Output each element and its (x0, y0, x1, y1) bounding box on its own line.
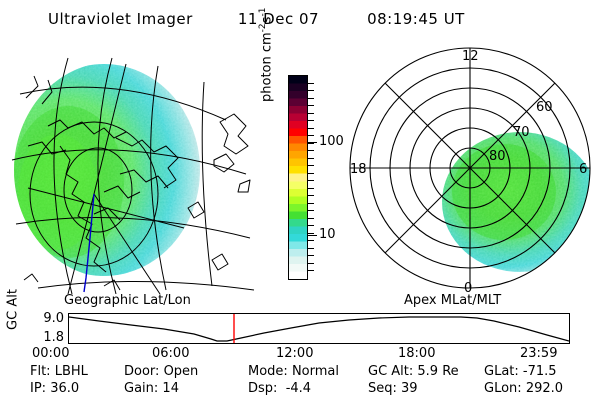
lat-label-70: 70 (513, 125, 530, 140)
altitude-xtick-4: 23:59 (520, 346, 557, 361)
colorbar-minor-tick (308, 233, 314, 234)
observation-time: 08:19:45 UT (367, 10, 465, 28)
altitude-xtick-0: 00:00 (32, 346, 69, 361)
polar-plot-svg: 12 18 6 0 60 70 80 (348, 42, 596, 294)
polar-panel-subtitle: Apex MLat/MLT (404, 293, 501, 308)
status-gcalt: GC Alt: 5.9 Re (368, 364, 459, 379)
geographic-panel-subtitle: Geographic Lat/Lon (64, 293, 191, 308)
altitude-xtick-2: 12:00 (276, 346, 313, 361)
altitude-track-svg (69, 314, 569, 343)
status-gcalt-value: 5.9 Re (417, 364, 458, 379)
status-readout: Flt: LBHL Door: Open Mode: Normal GC Alt… (0, 364, 600, 398)
status-seq-label: Seq: (368, 381, 397, 396)
colorbar-minor-tick (308, 98, 314, 99)
status-row-1: Flt: LBHL Door: Open Mode: Normal GC Alt… (0, 364, 600, 381)
colorbar-minor-tick (308, 90, 314, 91)
colorbar-minor-tick (308, 225, 314, 226)
colorbar-minor-tick (308, 270, 314, 271)
colorbar-gradient (289, 76, 307, 279)
mlt-spokes (350, 48, 590, 288)
colorbar-minor-tick (308, 180, 314, 181)
status-mode: Mode: Normal (248, 364, 339, 379)
colorbar-axis-label: photon cm-2s-1 (258, 0, 274, 102)
colorbar-minor-tick (308, 165, 314, 166)
mlt-label-12: 12 (462, 49, 479, 64)
status-flt-value: LBHL (55, 364, 88, 379)
observation-date: 11 Dec 07 (238, 10, 319, 28)
status-door-value: Open (164, 364, 199, 379)
lat-label-80: 80 (489, 149, 506, 164)
colorbar-group: photon cm-2s-1 10010 (256, 42, 342, 294)
colorbar-minor-tick (308, 113, 314, 114)
colorbar-unit-exp1: -2 (258, 23, 268, 32)
status-gain-value: 14 (162, 381, 179, 396)
status-ip: IP: 36.0 (30, 381, 79, 396)
status-gcalt-label: GC Alt: (368, 364, 413, 379)
geographic-image-panel[interactable] (8, 42, 256, 294)
header-bar: Ultraviolet Imager 11 Dec 07 08:19:45 UT (0, 6, 600, 32)
colorbar-unit-exp2: -1 (258, 8, 268, 17)
colorbar-minor-tick (308, 263, 314, 264)
colorbar-tick-label-10: 10 (319, 228, 336, 241)
mlt-label-18: 18 (350, 162, 367, 177)
status-flt: Flt: LBHL (30, 364, 88, 379)
altitude-xtick-1: 06:00 (152, 346, 189, 361)
status-gain: Gain: 14 (124, 381, 179, 396)
mlt-label-6: 6 (579, 162, 587, 177)
colorbar-minor-tick (308, 248, 314, 249)
altitude-xtick-3: 18:00 (398, 346, 435, 361)
colorbar-major-tick-10 (308, 235, 317, 236)
polar-mlt-panel[interactable]: 12 18 6 0 60 70 80 (348, 42, 596, 294)
colorbar-minor-tick (308, 158, 314, 159)
status-flt-label: Flt: (30, 364, 51, 379)
colorbar-minor-tick (308, 218, 314, 219)
colorbar-minor-tick (308, 120, 314, 121)
colorbar-tick-label-100: 100 (319, 135, 344, 148)
geographic-map-svg (8, 42, 256, 294)
colorbar-minor-tick (308, 128, 314, 129)
status-mode-value: Normal (292, 364, 339, 379)
status-glon-label: GLon: (484, 381, 522, 396)
colorbar-minor-tick (308, 135, 314, 136)
altitude-track-plot[interactable] (68, 313, 570, 344)
colorbar-minor-tick (308, 210, 314, 211)
colorbar-unit-main: photon cm (259, 32, 274, 102)
colorbar-scale[interactable] (288, 75, 308, 280)
status-dsp: Dsp: -4.4 (248, 381, 311, 396)
status-door: Door: Open (124, 364, 198, 379)
colorbar-major-tick-100 (308, 142, 317, 143)
status-ip-label: IP: (30, 381, 46, 396)
colorbar-minor-tick (308, 173, 314, 174)
altitude-curve (69, 317, 569, 341)
altitude-ytick-low: 1.8 (30, 330, 64, 345)
status-glat-value: -71.5 (523, 364, 557, 379)
status-mode-label: Mode: (248, 364, 288, 379)
status-ip-value: 36.0 (50, 381, 79, 396)
status-seq: Seq: 39 (368, 381, 418, 396)
status-glon: GLon: 292.0 (484, 381, 563, 396)
lat-label-60: 60 (536, 100, 553, 115)
status-door-label: Door: (124, 364, 159, 379)
colorbar-minor-tick (308, 188, 314, 189)
colorbar-minor-tick (308, 195, 314, 196)
status-gain-label: Gain: (124, 381, 158, 396)
colorbar-minor-tick (308, 83, 314, 84)
altitude-axis-label: GC Alt (6, 285, 21, 335)
colorbar-minor-tick (308, 203, 314, 204)
altitude-ytick-high: 9.0 (30, 311, 64, 326)
colorbar-minor-tick (308, 240, 314, 241)
status-dsp-value: -4.4 (286, 381, 311, 396)
status-seq-value: 39 (401, 381, 418, 396)
status-glat-label: GLat: (484, 364, 519, 379)
colorbar-minor-tick (308, 105, 314, 106)
status-row-2: IP: 36.0 Gain: 14 Dsp: -4.4 Seq: 39 GLon… (0, 381, 600, 398)
instrument-title: Ultraviolet Imager (48, 10, 193, 28)
status-glon-value: 292.0 (526, 381, 563, 396)
colorbar-minor-tick (308, 255, 314, 256)
colorbar-minor-tick (308, 150, 314, 151)
colorbar-unit-mid: s (259, 17, 274, 24)
status-dsp-label: Dsp: (248, 381, 277, 396)
status-glat: GLat: -71.5 (484, 364, 557, 379)
